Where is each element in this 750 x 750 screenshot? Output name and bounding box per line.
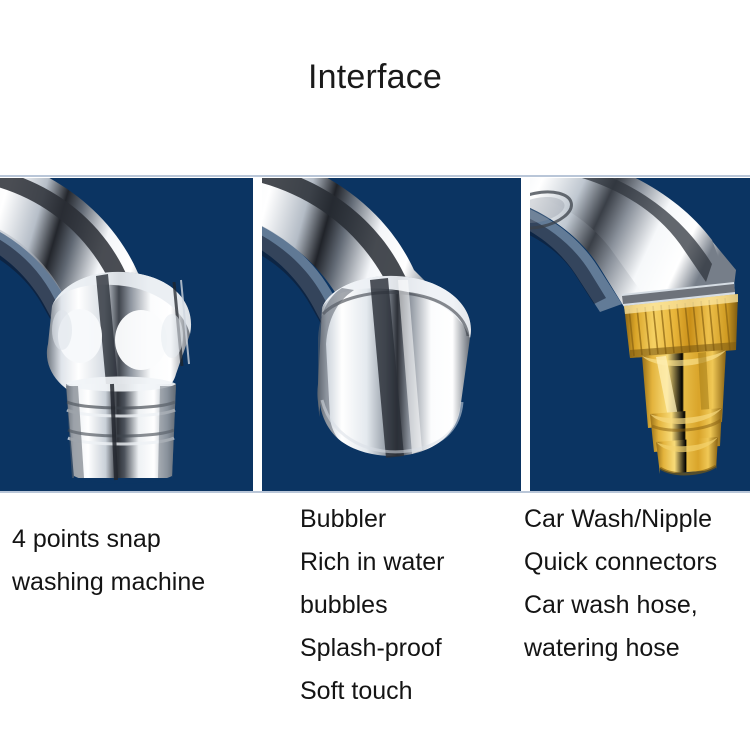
caption-line: bubbles bbox=[300, 584, 445, 627]
caption-line: Splash-proof bbox=[300, 627, 445, 670]
strip-rule-bottom bbox=[0, 491, 750, 493]
product-panel-bubbler bbox=[262, 178, 521, 491]
caption-line: Rich in water bbox=[300, 541, 445, 584]
caption-line: Car wash hose, bbox=[524, 584, 717, 627]
faucet-snap-connector-image bbox=[0, 178, 253, 491]
product-feature-image: Interface bbox=[0, 0, 750, 750]
caption-line: watering hose bbox=[524, 627, 717, 670]
caption-line: Bubbler bbox=[300, 498, 445, 541]
page-title: Interface bbox=[0, 57, 750, 97]
caption-bubbler: Bubbler Rich in water bubbles Splash-pro… bbox=[300, 498, 445, 713]
strip-rule-top bbox=[0, 175, 750, 177]
faucet-brass-nipple-image bbox=[530, 178, 750, 491]
caption-car-wash-nipple: Car Wash/Nipple Quick connectors Car was… bbox=[524, 498, 717, 670]
caption-line: Car Wash/Nipple bbox=[524, 498, 717, 541]
caption-line: washing machine bbox=[12, 561, 205, 604]
caption-line: Soft touch bbox=[300, 670, 445, 713]
product-panel-car-wash-nipple bbox=[530, 178, 750, 491]
product-panel-snap-connector bbox=[0, 178, 253, 491]
panel-strip bbox=[0, 178, 750, 491]
faucet-bubbler-image bbox=[262, 178, 521, 491]
caption-snap-connector: 4 points snap washing machine bbox=[12, 518, 205, 604]
caption-line: Quick connectors bbox=[524, 541, 717, 584]
caption-line: 4 points snap bbox=[12, 518, 205, 561]
